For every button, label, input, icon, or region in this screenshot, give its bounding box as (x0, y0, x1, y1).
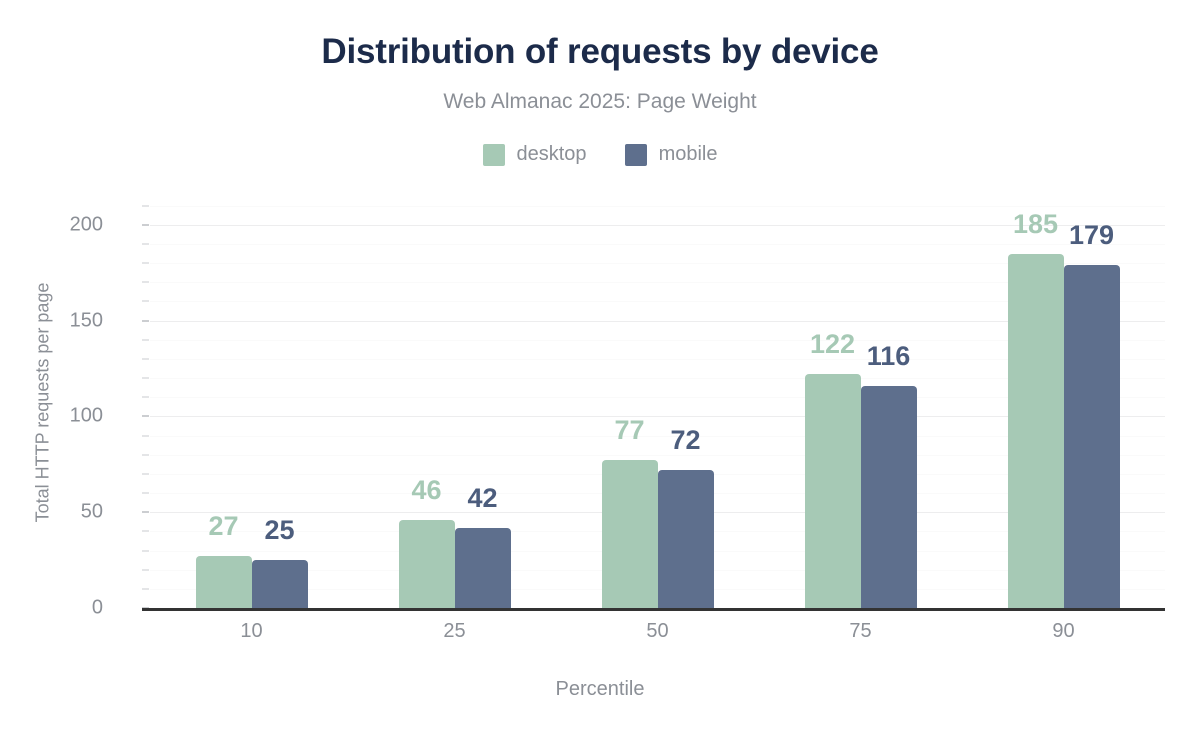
y-axis-tick-mark (142, 569, 149, 570)
chart-subtitle: Web Almanac 2025: Page Weight (0, 90, 1200, 114)
bar-mobile-25[interactable] (455, 528, 511, 608)
bar-group-25: 4642 (399, 196, 511, 608)
x-axis-tick-label-90: 90 (1052, 620, 1074, 643)
y-axis-tick-mark (142, 531, 149, 532)
y-axis-title: Total HTTP requests per page (30, 196, 56, 608)
y-axis-tick-mark (142, 358, 149, 359)
bar-desktop-50[interactable] (602, 460, 658, 608)
y-axis-tick-mark (142, 493, 149, 494)
y-axis-tick-mark (142, 243, 149, 244)
bar-group-90: 185179 (1008, 196, 1120, 608)
y-axis-tick-mark (142, 205, 149, 206)
chart-legend: desktopmobile (0, 143, 1200, 166)
bar-mobile-90[interactable] (1064, 265, 1120, 608)
bar-value-label-mobile-90: 179 (1050, 220, 1134, 251)
bar-mobile-75[interactable] (861, 386, 917, 608)
y-axis-tick-mark (142, 263, 149, 264)
x-axis-title: Percentile (0, 678, 1200, 701)
bar-desktop-25[interactable] (399, 520, 455, 608)
legend-swatch-mobile (625, 144, 647, 166)
y-axis-tick-label: 50 (81, 501, 103, 524)
y-axis-tick-mark (142, 301, 149, 302)
bar-group-75: 122116 (805, 196, 917, 608)
bars-layer: 2725104642257772501221167518517990 (150, 196, 1165, 608)
y-axis-tick-label: 0 (92, 597, 103, 620)
bar-value-label-mobile-50: 72 (644, 425, 728, 456)
legend-swatch-desktop (483, 144, 505, 166)
x-axis-tick-label-75: 75 (849, 620, 871, 643)
y-axis-tick-mark (142, 339, 149, 340)
x-axis-line (142, 608, 1165, 611)
bar-group-10: 2725 (196, 196, 308, 608)
y-axis-tick-mark (142, 224, 149, 225)
legend-item-mobile[interactable]: mobile (625, 143, 718, 166)
chart-title: Distribution of requests by device (0, 32, 1200, 72)
plot-area: 050100150200 272510464225777250122116751… (150, 196, 1165, 608)
bar-mobile-50[interactable] (658, 470, 714, 608)
legend-label-desktop: desktop (517, 143, 587, 166)
y-axis-tick-mark (142, 454, 149, 455)
bar-desktop-10[interactable] (196, 556, 252, 608)
legend-item-desktop[interactable]: desktop (483, 143, 587, 166)
bar-value-label-mobile-10: 25 (238, 515, 322, 546)
y-axis-tick-mark (142, 378, 149, 379)
x-axis-tick-label-10: 10 (240, 620, 262, 643)
y-axis-tick-label: 200 (70, 213, 103, 236)
bar-group-50: 7772 (602, 196, 714, 608)
y-axis-tick-mark (142, 588, 149, 589)
y-axis-tick-mark (142, 416, 149, 417)
bar-value-label-mobile-75: 116 (847, 341, 931, 372)
y-axis-tick-label: 100 (70, 405, 103, 428)
y-axis-tick-mark (142, 473, 149, 474)
bar-value-label-mobile-25: 42 (441, 483, 525, 514)
y-axis-tick-mark (142, 282, 149, 283)
y-axis-tick-mark (142, 435, 149, 436)
bar-mobile-10[interactable] (252, 560, 308, 608)
chart-container: Distribution of requests by device Web A… (0, 0, 1200, 742)
y-axis-tick-mark (142, 550, 149, 551)
y-axis-tick-mark (142, 512, 149, 513)
y-axis-tick-mark (142, 320, 149, 321)
bar-desktop-90[interactable] (1008, 254, 1064, 609)
legend-label-mobile: mobile (659, 143, 718, 166)
y-axis-tick-mark (142, 397, 149, 398)
y-axis-tick-label: 150 (70, 309, 103, 332)
x-axis-tick-label-50: 50 (646, 620, 668, 643)
bar-desktop-75[interactable] (805, 374, 861, 608)
x-axis-tick-label-25: 25 (443, 620, 465, 643)
y-axis-title-text: Total HTTP requests per page (33, 282, 54, 522)
